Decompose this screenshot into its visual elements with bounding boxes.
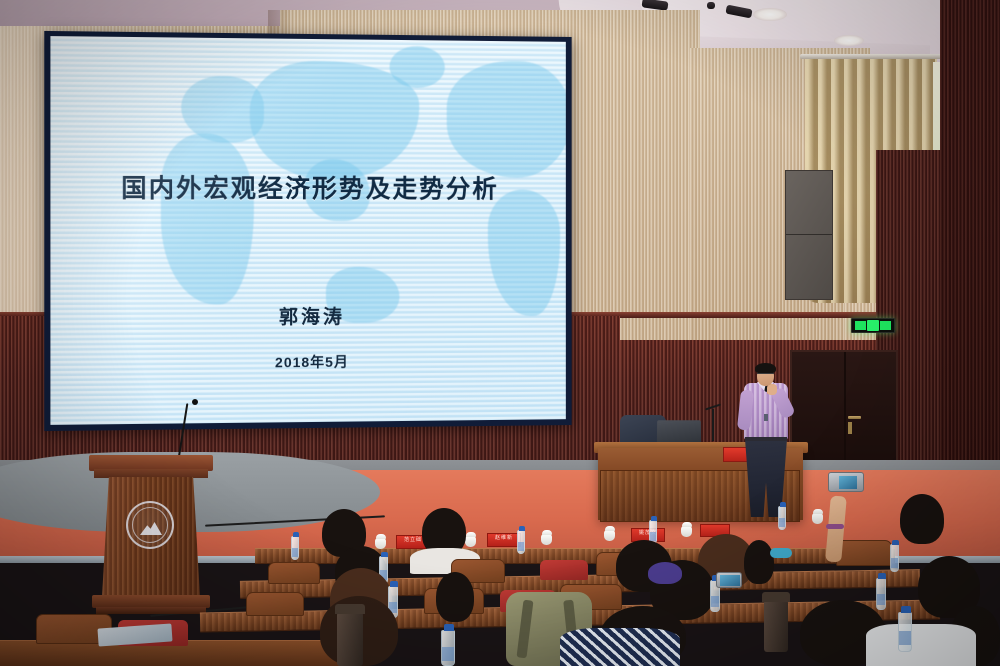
bottle-cap: [780, 502, 786, 507]
bottle-cap: [892, 540, 899, 545]
water-bottle[interactable]: [778, 506, 786, 530]
presenter-belt: [745, 437, 787, 441]
thermos-lid: [335, 604, 365, 614]
wall-speaker-panel: [785, 170, 833, 300]
map-landmass-greenland: [390, 46, 445, 88]
bottle-cap: [878, 573, 886, 579]
teacup-lid: [376, 534, 386, 539]
hair-tie-accessory: [770, 548, 792, 558]
audience-head: [744, 540, 774, 584]
projection-screen-surface: 国内外宏观经济形势及走势分析 郭海涛 2018年5月: [50, 36, 565, 425]
door-lock-plate: [848, 422, 852, 434]
bottle-label: [518, 542, 524, 551]
thermos-cup[interactable]: [764, 600, 788, 652]
audience-shoulders: [560, 628, 680, 666]
lectern-podium[interactable]: [96, 455, 206, 625]
desk-microphone-stem[interactable]: [712, 409, 714, 441]
presenter-hand: [767, 384, 777, 395]
lecture-hall-photo: 国内外宏观经济形势及走势分析 郭海涛 2018年5月: [0, 0, 1000, 666]
door-handle[interactable]: [848, 416, 861, 419]
bottle-cap: [390, 581, 398, 587]
smartphone-screen: [839, 476, 857, 489]
teacup[interactable]: [812, 513, 823, 524]
bottle-cap: [293, 532, 299, 537]
track-spotlight: [707, 2, 715, 9]
bottle-cap: [901, 606, 911, 613]
ceiling-downlight: [753, 8, 787, 21]
thermos-cup[interactable]: [337, 612, 363, 666]
teacup[interactable]: [465, 536, 476, 547]
smartphone[interactable]: [828, 472, 864, 492]
teacup-lid: [466, 532, 476, 537]
audience-head: [436, 572, 474, 622]
audience-seat-cushion: [540, 560, 588, 580]
university-emblem-icon: [126, 501, 174, 549]
wall-column-far-right: [940, 0, 1000, 470]
audience-seat-back: [836, 540, 892, 566]
podium-top-molding: [94, 469, 208, 478]
water-bottle[interactable]: [890, 544, 899, 572]
bottle-cap: [444, 624, 454, 631]
map-landmass-africa: [161, 133, 254, 304]
audience-nameplate: 赵维新: [487, 533, 521, 547]
teacup[interactable]: [375, 538, 386, 549]
presenter-badge: [764, 414, 768, 421]
wrist-band: [826, 524, 844, 529]
bottle-label: [711, 596, 719, 607]
curtain-rod[interactable]: [800, 54, 946, 59]
audience-head: [900, 494, 944, 544]
hair-bow-accessory: [648, 562, 682, 584]
water-bottle[interactable]: [898, 612, 912, 652]
bottle-label: [779, 518, 785, 527]
bottle-label: [891, 558, 898, 568]
map-landmass-south-america: [488, 189, 560, 316]
audience-shoulders: [866, 624, 976, 666]
slide-date: 2018年5月: [50, 350, 565, 374]
ceiling-downlight: [834, 35, 864, 46]
teacup-lid: [542, 530, 552, 535]
teacup[interactable]: [604, 530, 615, 541]
bottle-cap: [519, 526, 525, 531]
smartphone[interactable]: [716, 572, 742, 588]
water-bottle[interactable]: [517, 530, 525, 554]
bottle-label: [650, 532, 656, 541]
bottle-cap: [381, 552, 388, 557]
bottle-cap: [651, 516, 657, 521]
teacup[interactable]: [541, 534, 552, 545]
exit-arrow-right-icon: [880, 321, 891, 330]
thermos-lid: [762, 592, 790, 602]
teacup-lid: [682, 522, 692, 527]
smartphone-screen: [720, 575, 740, 586]
bottle-label: [442, 647, 454, 661]
emblem-inner-ring: [132, 507, 168, 543]
bottle-label: [292, 548, 298, 557]
water-bottle[interactable]: [441, 630, 455, 666]
teacup-lid: [813, 509, 823, 514]
emergency-exit-sign: [851, 318, 895, 333]
door-seam: [844, 352, 846, 470]
exit-running-man-icon: [867, 320, 879, 331]
glasses-icon: [757, 373, 774, 376]
bottle-label: [877, 594, 885, 605]
water-bottle[interactable]: [291, 536, 299, 560]
projection-screen: 国内外宏观经济形势及走势分析 郭海涛 2018年5月: [44, 31, 571, 431]
audience-seat-back: [246, 592, 304, 616]
podium-microphone-icon[interactable]: [192, 399, 198, 405]
teacup-lid: [605, 526, 615, 531]
hall-double-doors[interactable]: [790, 350, 898, 472]
map-landmass-north-america: [447, 60, 566, 177]
water-bottle[interactable]: [876, 578, 886, 610]
bottle-label: [899, 631, 911, 645]
teacup[interactable]: [681, 526, 692, 537]
podium-plinth: [96, 607, 206, 614]
exit-arrow-left-icon: [855, 321, 866, 330]
slide-author: 郭海涛: [50, 301, 565, 331]
slide-title: 国内外宏观经济形势及走势分析: [50, 168, 565, 205]
audience-seat-back: [268, 562, 320, 584]
